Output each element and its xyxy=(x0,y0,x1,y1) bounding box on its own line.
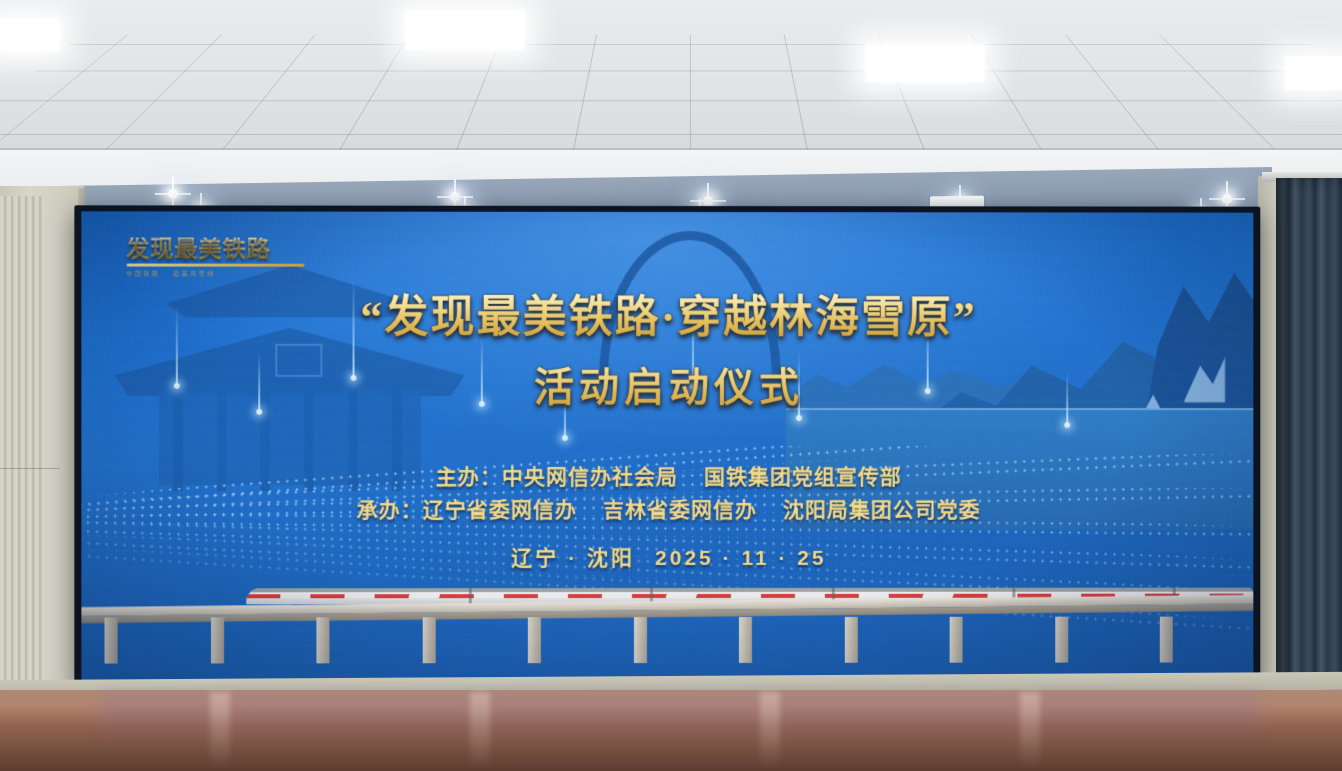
floor-highlight xyxy=(760,692,780,770)
downlight xyxy=(450,192,460,202)
photo-scene: 发现最美铁路 中国铁路 · 最美风景线 “发现最美铁路·穿越林海雪原” 活动启动… xyxy=(0,0,1342,771)
ceiling-tile-grid xyxy=(0,34,1342,160)
ceiling-panel-light xyxy=(405,10,525,50)
floor-gloss xyxy=(0,690,1342,771)
screen-vignette xyxy=(81,211,1253,680)
left-wall-seam xyxy=(0,468,60,469)
floor-highlight xyxy=(1020,692,1040,770)
ceiling-panel-light xyxy=(0,18,60,52)
downlight xyxy=(1222,194,1232,204)
floor-highlight xyxy=(210,692,230,770)
ceiling xyxy=(0,0,1342,160)
ceiling-panel-light xyxy=(865,44,985,82)
led-screen-frame: 发现最美铁路 中国铁路 · 最美风景线 “发现最美铁路·穿越林海雪原” 活动启动… xyxy=(74,205,1260,686)
led-screen: 发现最美铁路 中国铁路 · 最美风景线 “发现最美铁路·穿越林海雪原” 活动启动… xyxy=(81,211,1253,680)
downlight xyxy=(703,196,713,206)
floor-highlight xyxy=(470,692,490,770)
left-wall-slat-panel xyxy=(0,196,46,696)
downlight xyxy=(168,189,178,199)
ceiling-panel-light xyxy=(1285,56,1342,90)
curtain[interactable] xyxy=(1276,178,1342,706)
